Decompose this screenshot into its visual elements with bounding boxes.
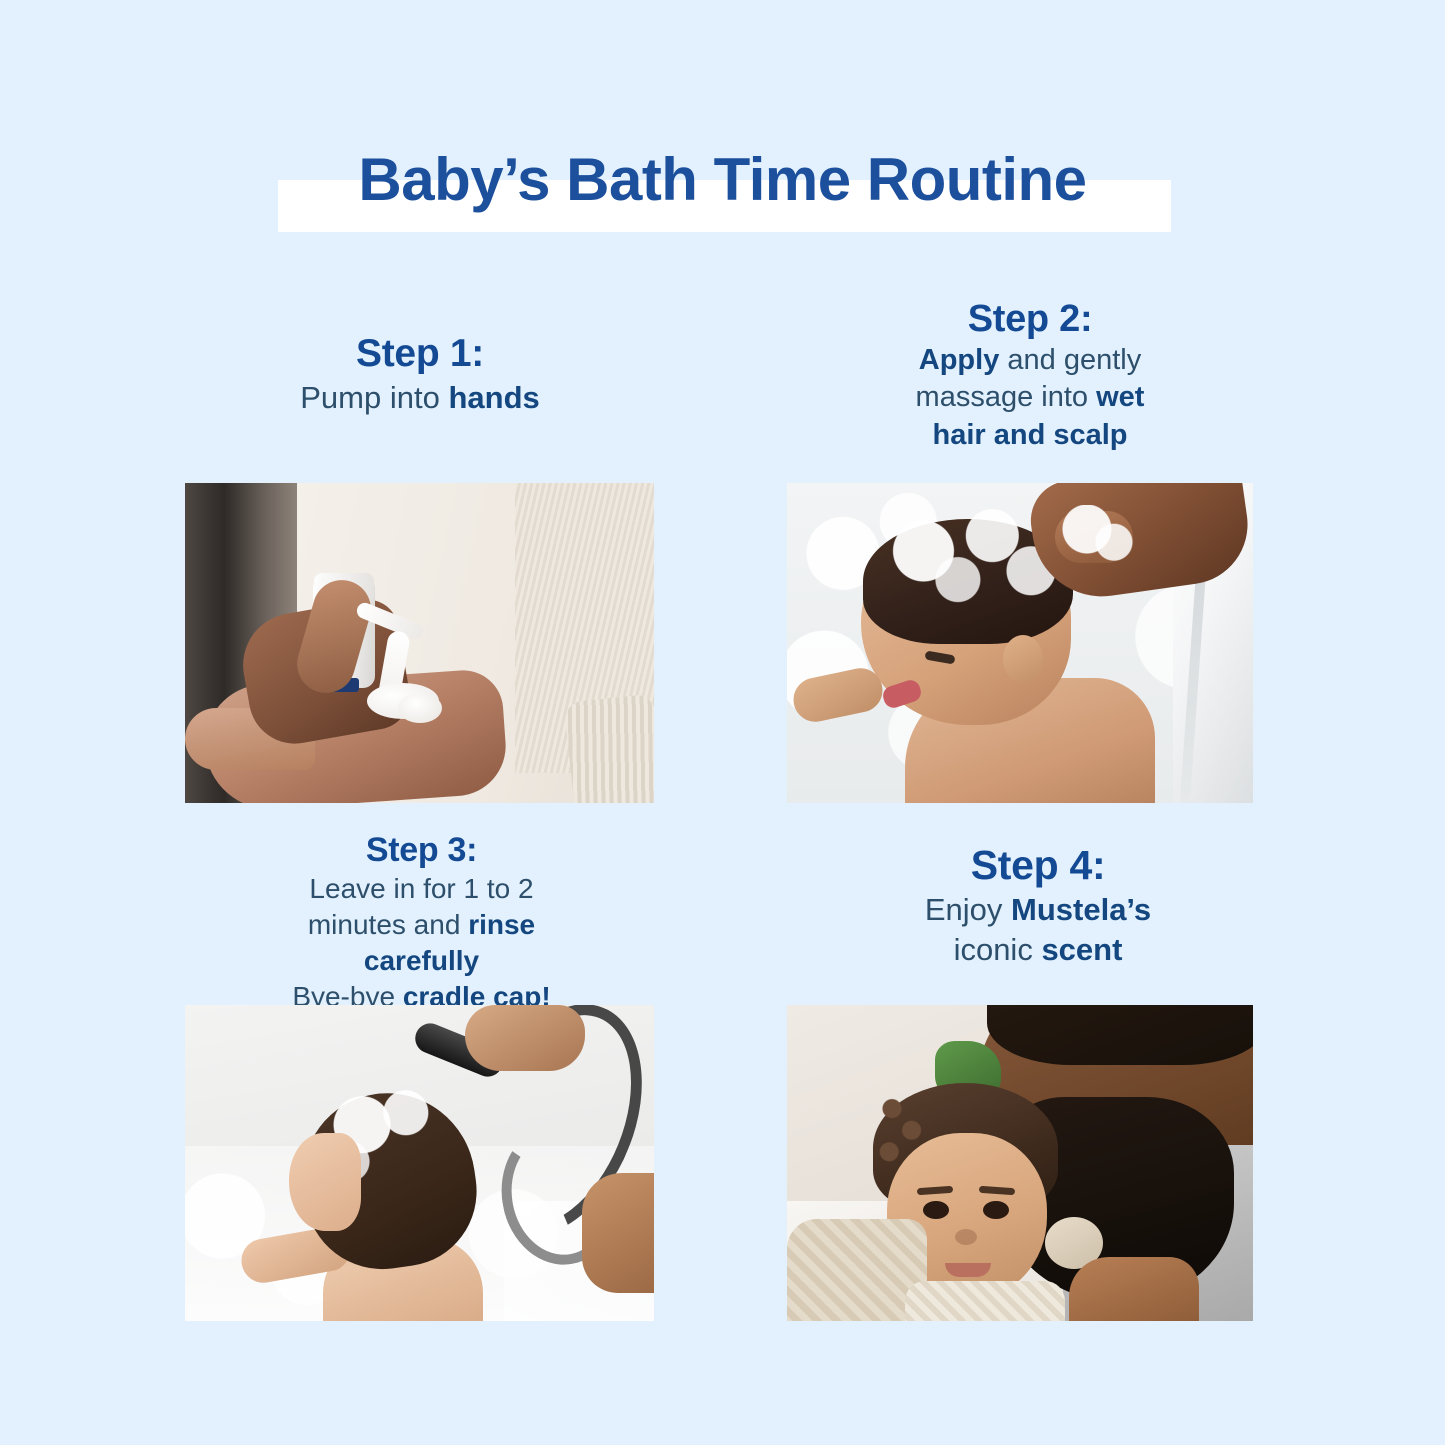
step-1-text-block: Step 1: Pump into hands: [220, 330, 620, 417]
photo3-baby-face: [289, 1133, 361, 1231]
photo3-second-hand: [582, 1173, 654, 1293]
step-1-heading: Step 1:: [220, 330, 620, 378]
photo4-father-hair: [987, 1005, 1253, 1065]
step-4-heading: Step 4:: [888, 840, 1188, 890]
photo4-baby-mouth: [945, 1263, 991, 1277]
step-4-text-block: Step 4: Enjoy Mustela’s iconic scent: [888, 840, 1188, 969]
photo4-father-arm: [1069, 1257, 1199, 1321]
photo-pump-into-hands: [185, 483, 654, 803]
page-title: Baby’s Bath Time Routine: [0, 148, 1445, 211]
photo1-product-blob-secondary: [398, 693, 442, 723]
photo4-baby-eye-left: [923, 1201, 949, 1219]
step-2-body-plain-1: and gently: [999, 344, 1141, 376]
step-3-body-bold-1: rinse: [468, 909, 535, 940]
photo2-hand-suds: [1051, 505, 1141, 565]
step-4-body-plain-2: iconic: [954, 932, 1042, 967]
step-4-body: Enjoy Mustela’s iconic scent: [888, 890, 1188, 969]
step-1-body-bold: hands: [448, 380, 539, 415]
step-2-body: Apply and gently massage into wet hair a…: [880, 342, 1180, 453]
step-4-body-bold-2: scent: [1041, 932, 1122, 967]
step-3-heading: Step 3:: [275, 830, 568, 871]
photo-rinse-carefully: [185, 1005, 654, 1321]
photo3-parent-hand: [465, 1005, 585, 1071]
step-2-heading: Step 2:: [880, 296, 1180, 342]
photo4-towel-front: [905, 1281, 1065, 1321]
photo4-baby-nose: [955, 1229, 977, 1245]
step-3-body-plain-1: Leave in for 1 to 2: [309, 873, 533, 904]
photo4-baby-eye-right: [983, 1201, 1009, 1219]
photo-massage-scalp: [787, 483, 1253, 803]
step-3-body: Leave in for 1 to 2 minutes and rinse ca…: [275, 871, 568, 1014]
step-1-body: Pump into hands: [220, 378, 620, 418]
step-3-body-bold-2: carefully: [364, 945, 479, 976]
step-3-text-block: Step 3: Leave in for 1 to 2 minutes and …: [275, 830, 568, 1015]
step-2-body-plain-2: massage into: [916, 381, 1097, 413]
step-3-body-plain-2: minutes and: [308, 909, 468, 940]
step-2-body-bold-2: wet: [1096, 381, 1144, 413]
photo1-sleeve-cuff: [564, 694, 654, 803]
step-2-body-bold-3: hair and scalp: [932, 419, 1127, 451]
step-2-body-bold-1: Apply: [919, 344, 1000, 376]
step-1-body-plain: Pump into: [300, 380, 448, 415]
photo2-baby-ear: [1003, 635, 1043, 683]
step-4-body-plain-1: Enjoy: [925, 892, 1011, 927]
photo-iconic-scent: [787, 1005, 1253, 1321]
step-4-body-bold-1: Mustela’s: [1011, 892, 1151, 927]
step-2-text-block: Step 2: Apply and gently massage into we…: [880, 296, 1180, 454]
